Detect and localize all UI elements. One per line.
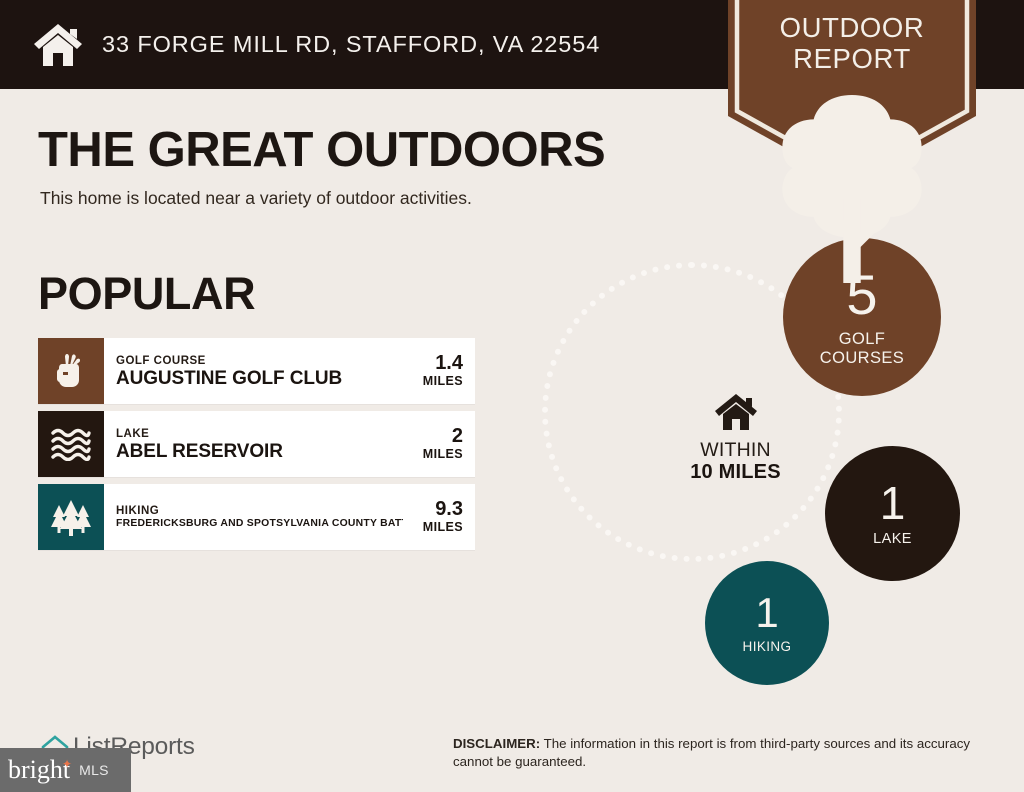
page-subtitle: This home is located near a variety of o… — [40, 188, 472, 209]
watermark-brand: bright✦ — [8, 757, 70, 783]
poi-name: FREDERICKSBURG AND SPOTSYLVANIA COUNTY B… — [116, 518, 403, 531]
waves-icon — [50, 427, 92, 461]
diagram-center: WITHIN 10 MILES — [668, 393, 803, 484]
poi-distance: 9.3 MILES — [403, 484, 475, 550]
golf-bag-icon — [53, 352, 89, 390]
list-item[interactable]: GOLF COURSE AUGUSTINE GOLF CLUB 1.4 MILE… — [38, 338, 475, 404]
poi-distance-value: 1.4 — [435, 353, 463, 374]
poi-text: HIKING FREDERICKSBURG AND SPOTSYLVANIA C… — [104, 484, 403, 550]
poi-icon-box — [38, 411, 104, 477]
poi-category: LAKE — [116, 427, 403, 441]
poi-distance-value: 9.3 — [435, 499, 463, 520]
poi-icon-box — [38, 484, 104, 550]
stat-count: 1 — [880, 480, 906, 526]
stat-count: 1 — [755, 592, 778, 634]
stat-bubble-lake[interactable]: 1 LAKE — [825, 446, 960, 581]
home-icon — [32, 22, 84, 68]
home-icon — [714, 393, 758, 431]
disclaimer: DISCLAIMER: The information in this repo… — [453, 735, 1008, 770]
sparkle-icon: ✦ — [62, 758, 72, 770]
within-10-miles-diagram: WITHIN 10 MILES 5 GOLFCOURSES 1 LAKE 1 H… — [520, 215, 1024, 695]
popular-heading: POPULAR — [38, 268, 255, 320]
bright-mls-watermark: bright✦ MLS — [0, 748, 131, 792]
poi-distance-unit: MILES — [423, 447, 463, 462]
poi-distance: 2 MILES — [403, 411, 475, 477]
popular-list: GOLF COURSE AUGUSTINE GOLF CLUB 1.4 MILE… — [38, 338, 475, 557]
poi-distance-unit: MILES — [423, 520, 463, 535]
poi-category: GOLF COURSE — [116, 354, 403, 368]
poi-distance-unit: MILES — [423, 374, 463, 389]
diagram-center-line1: WITHIN — [668, 439, 803, 461]
list-item[interactable]: HIKING FREDERICKSBURG AND SPOTSYLVANIA C… — [38, 484, 475, 550]
stat-label: HIKING — [743, 640, 792, 654]
poi-distance: 1.4 MILES — [403, 338, 475, 404]
poi-text: GOLF COURSE AUGUSTINE GOLF CLUB — [104, 338, 403, 404]
poi-text: LAKE ABEL RESERVOIR — [104, 411, 403, 477]
stat-label: GOLFCOURSES — [820, 330, 904, 368]
poi-name: ABEL RESERVOIR — [116, 441, 403, 462]
poi-name: AUGUSTINE GOLF CLUB — [116, 368, 403, 389]
stat-bubble-hiking[interactable]: 1 HIKING — [705, 561, 829, 685]
poi-category: HIKING — [116, 504, 403, 518]
diagram-center-line2: 10 MILES — [668, 461, 803, 484]
poi-distance-value: 2 — [452, 426, 463, 447]
outdoor-report-badge: OUTDOOR REPORT — [728, 0, 976, 185]
list-item[interactable]: LAKE ABEL RESERVOIR 2 MILES — [38, 411, 475, 477]
trees-icon — [50, 497, 92, 537]
disclaimer-label: DISCLAIMER: — [453, 736, 540, 751]
watermark-suffix: MLS — [79, 762, 109, 778]
poi-icon-box — [38, 338, 104, 404]
property-address: 33 FORGE MILL RD, STAFFORD, VA 22554 — [102, 31, 600, 58]
tree-icon — [728, 88, 976, 283]
page-title: THE GREAT OUTDOORS — [38, 122, 605, 178]
watermark-brand-text: bright — [8, 755, 70, 784]
stat-label: LAKE — [873, 532, 912, 547]
